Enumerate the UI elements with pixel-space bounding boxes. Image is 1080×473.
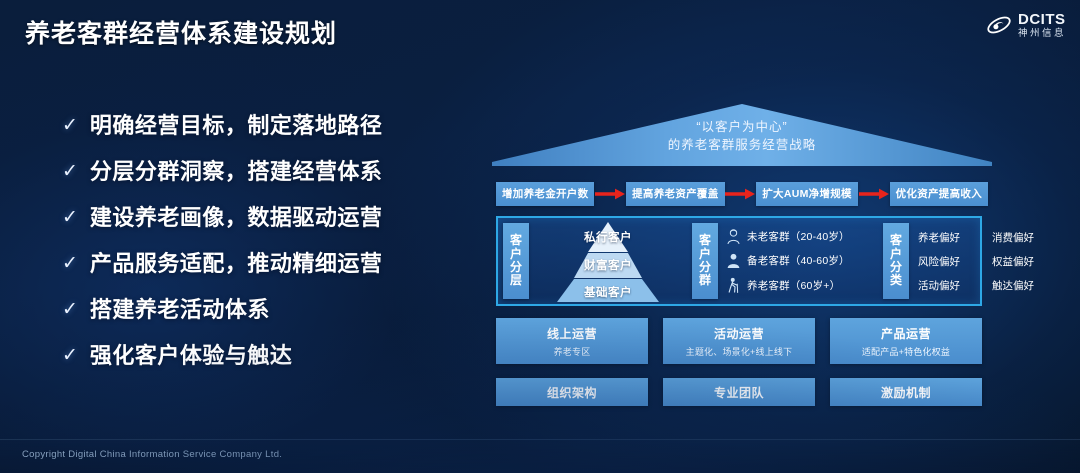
operations-row: 线上运营 养老专区 活动运营 主题化、场景化+线上线下 产品运营 适配产品+特色… <box>496 318 982 364</box>
company-logo: DCITS 神州信息 <box>986 12 1066 39</box>
strategy-box-2[interactable]: 提高养老资产覆盖 <box>626 182 724 206</box>
customer-core-panel: 客 户 分 层 私行客户 财富客户 基础客户 客 户 分 <box>496 216 982 306</box>
customer-tags-label: 客 户 分 类 <box>883 223 909 299</box>
tag-label: 养老偏好 <box>918 230 972 245</box>
check-icon: ✓ <box>62 254 78 273</box>
check-icon: ✓ <box>62 162 78 181</box>
roof-label-line2: 的养老客群服务经营战略 <box>492 136 992 154</box>
customer-groups-list: 未老客群（20-40岁） 备老客群（40-60岁） <box>718 218 878 304</box>
group-label: 备老客群（40-60岁） <box>747 253 850 268</box>
tag-label: 风险偏好 <box>918 254 972 269</box>
group-label: 养老客群（60岁+） <box>747 278 840 293</box>
list-item: ✓ 搭建养老活动体系 <box>62 292 462 324</box>
foundation-box-incentive[interactable]: 激励机制 <box>830 378 982 406</box>
foundation-row: 组织架构 专业团队 激励机制 <box>496 378 982 406</box>
check-icon: ✓ <box>62 116 78 135</box>
list-item-label: 强化客户体验与触达 <box>90 338 293 370</box>
card-title: 产品运营 <box>881 325 931 342</box>
foundation-box-team[interactable]: 专业团队 <box>663 378 815 406</box>
dcits-swirl-icon <box>986 12 1012 38</box>
diagram-roof: “以客户为中心” 的养老客群服务经营战略 <box>492 92 992 172</box>
vlabel-char: 类 <box>890 274 902 287</box>
vlabel-char: 户 <box>510 248 522 261</box>
operations-card-activity[interactable]: 活动运营 主题化、场景化+线上线下 <box>663 318 815 364</box>
operations-card-product[interactable]: 产品运营 适配产品+特色化权益 <box>830 318 982 364</box>
copyright-text: Copyright Digital China Information Serv… <box>22 449 282 460</box>
slide-header: 养老客群经营体系建设规划 DCITS 神州信息 <box>0 0 1080 60</box>
customer-pyramid: 私行客户 财富客户 基础客户 <box>529 218 687 304</box>
tag-label: 活动偏好 <box>918 278 972 293</box>
group-label: 未老客群（20-40岁） <box>747 229 850 244</box>
check-icon: ✓ <box>62 208 78 227</box>
strategy-box-4[interactable]: 优化资产提高收入 <box>890 182 988 206</box>
list-item: 备老客群（40-60岁） <box>726 252 878 269</box>
table-row: 养老偏好 消费偏好 <box>918 230 1046 245</box>
strategy-diagram: “以客户为中心” 的养老客群服务经营战略 增加养老金开户数 提高养老资产覆盖 扩… <box>492 92 992 422</box>
pyramid-tier-3: 基础客户 <box>529 284 687 300</box>
middle-aged-person-icon <box>726 252 741 269</box>
table-row: 风险偏好 权益偏好 <box>918 254 1046 269</box>
pyramid-tier-2: 财富客户 <box>529 257 687 273</box>
vlabel-char: 层 <box>510 274 522 287</box>
list-item-label: 分层分群洞察，搭建经营体系 <box>90 154 383 186</box>
list-item: ✓ 分层分群洞察，搭建经营体系 <box>62 154 462 186</box>
check-icon: ✓ <box>62 300 78 319</box>
list-item-label: 产品服务适配，推动精细运营 <box>90 246 383 278</box>
arrow-right-icon <box>859 188 889 200</box>
roof-label: “以客户为中心” 的养老客群服务经营战略 <box>492 118 992 154</box>
tag-label: 权益偏好 <box>992 254 1046 269</box>
card-title: 活动运营 <box>714 325 764 342</box>
vlabel-char: 客 <box>890 234 902 247</box>
pyramid-tier-1: 私行客户 <box>529 229 687 245</box>
arrow-right-icon <box>725 188 755 200</box>
page-title: 养老客群经营体系建设规划 <box>25 14 337 50</box>
customer-tiers-label: 客 户 分 层 <box>503 223 529 299</box>
operations-card-online[interactable]: 线上运营 养老专区 <box>496 318 648 364</box>
card-subtitle: 适配产品+特色化权益 <box>862 345 950 358</box>
customer-groups-label: 客 户 分 群 <box>692 223 718 299</box>
strategy-box-3[interactable]: 扩大AUM净增规模 <box>756 182 858 206</box>
list-item: ✓ 明确经营目标，制定落地路径 <box>62 108 462 140</box>
list-item: 未老客群（20-40岁） <box>726 228 878 245</box>
vlabel-char: 群 <box>699 274 711 287</box>
list-item: ✓ 产品服务适配，推动精细运营 <box>62 246 462 278</box>
key-points-list: ✓ 明确经营目标，制定落地路径 ✓ 分层分群洞察，搭建经营体系 ✓ 建设养老画像… <box>62 108 462 370</box>
vlabel-char: 户 <box>699 248 711 261</box>
vlabel-char: 客 <box>699 234 711 247</box>
list-item: 养老客群（60岁+） <box>726 277 878 294</box>
card-title: 线上运营 <box>547 325 597 342</box>
slide-canvas: 养老客群经营体系建设规划 DCITS 神州信息 ✓ 明确经营目标，制定落地路径 … <box>0 0 1080 473</box>
list-item: ✓ 强化客户体验与触达 <box>62 338 462 370</box>
check-icon: ✓ <box>62 346 78 365</box>
strategy-goals-row: 增加养老金开户数 提高养老资产覆盖 扩大AUM净增规模 优化资产提高收入 <box>496 182 988 206</box>
card-subtitle: 养老专区 <box>554 345 591 358</box>
young-person-icon <box>726 228 741 245</box>
table-row: 活动偏好 触达偏好 <box>918 278 1046 293</box>
tag-label: 消费偏好 <box>992 230 1046 245</box>
card-subtitle: 主题化、场景化+线上线下 <box>686 345 793 358</box>
arrow-right-icon <box>595 188 625 200</box>
list-item-label: 搭建养老活动体系 <box>90 292 270 324</box>
list-item-label: 建设养老画像，数据驱动运营 <box>90 200 383 232</box>
logo-text-en: DCITS <box>1018 12 1066 27</box>
vlabel-char: 户 <box>890 248 902 261</box>
logo-text-cn: 神州信息 <box>1018 29 1066 39</box>
tag-label: 触达偏好 <box>992 278 1046 293</box>
roof-label-line1: “以客户为中心” <box>492 118 992 136</box>
logo-wordmark: DCITS 神州信息 <box>1018 12 1066 39</box>
vlabel-char: 分 <box>510 261 522 274</box>
strategy-box-1[interactable]: 增加养老金开户数 <box>496 182 594 206</box>
vlabel-char: 客 <box>510 234 522 247</box>
elderly-person-icon <box>726 277 741 294</box>
foundation-box-organization[interactable]: 组织架构 <box>496 378 648 406</box>
list-item-label: 明确经营目标，制定落地路径 <box>90 108 383 140</box>
customer-preference-tags: 养老偏好 消费偏好 风险偏好 权益偏好 活动偏好 触达偏好 <box>909 218 1052 304</box>
slide-footer: Copyright Digital China Information Serv… <box>0 439 1080 473</box>
list-item: ✓ 建设养老画像，数据驱动运营 <box>62 200 462 232</box>
